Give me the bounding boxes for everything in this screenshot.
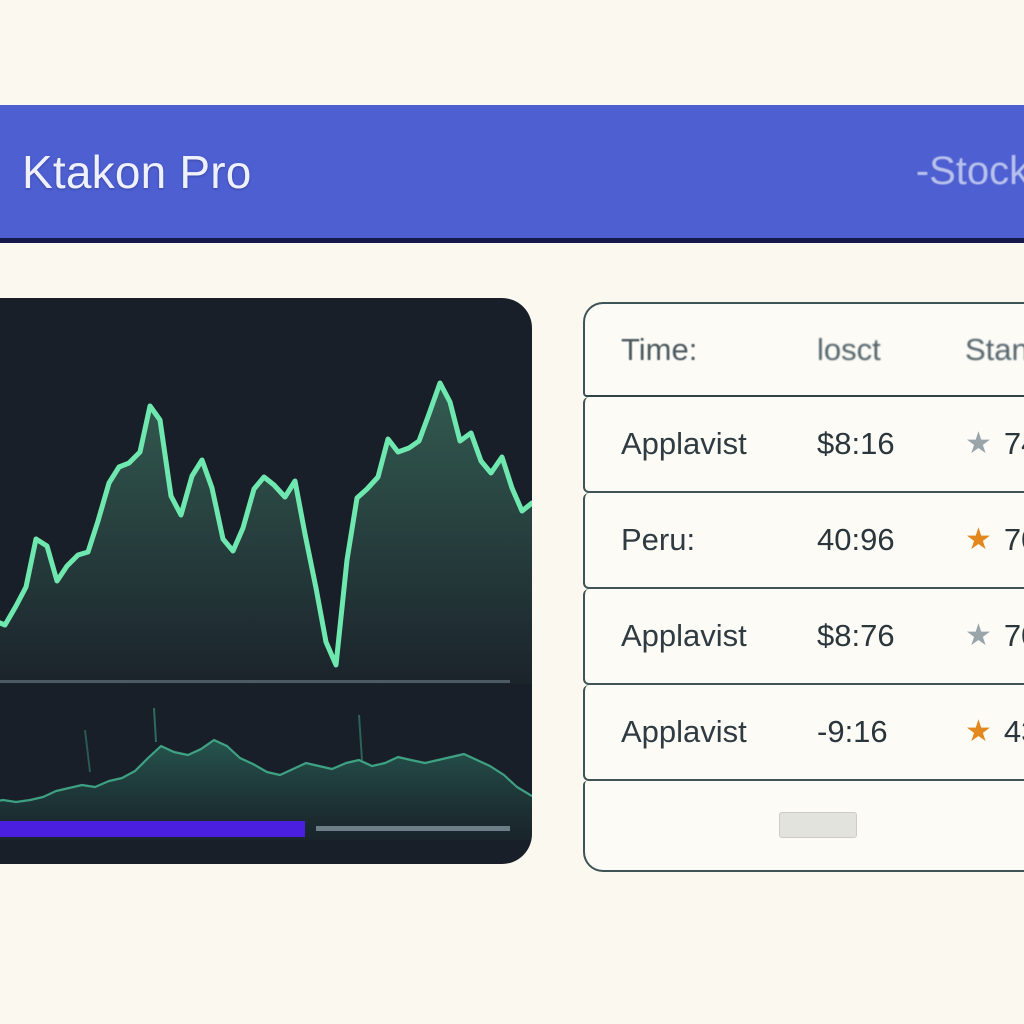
row-name: Applavist xyxy=(621,618,817,654)
star-icon[interactable]: ★ xyxy=(965,429,992,459)
row-score: 745 xyxy=(1004,426,1024,462)
row-score-cell: ★ 702 xyxy=(965,618,1024,654)
table-footer-row xyxy=(583,781,1024,872)
header-col-start: Stant xyxy=(965,332,1024,368)
row-score-cell: ★ 745 xyxy=(965,426,1024,462)
progress-fill[interactable] xyxy=(0,821,305,837)
volume-spike-1 xyxy=(154,708,156,742)
row-value: $8:76 xyxy=(817,618,965,654)
row-score: 70) xyxy=(1004,522,1024,558)
table-row[interactable]: Applavist $8:16 ★ 745 xyxy=(583,397,1024,493)
star-icon[interactable]: ★ xyxy=(965,525,992,555)
chart-card[interactable] xyxy=(0,298,532,864)
volume-chart-svg xyxy=(0,690,532,840)
price-chart[interactable] xyxy=(0,298,532,684)
row-score-cell: ★ 438 xyxy=(965,714,1024,750)
row-value: 40:96 xyxy=(817,522,965,558)
app-header-right-label: -Stockly xyxy=(916,149,1024,194)
app-header: Ktakon Pro -Stockly xyxy=(0,105,1024,243)
row-name: Peru: xyxy=(621,522,817,558)
row-score-cell: ★ 70) xyxy=(965,522,1024,558)
progress-track[interactable] xyxy=(316,826,510,831)
row-score: 702 xyxy=(1004,618,1024,654)
price-chart-svg xyxy=(0,298,532,684)
star-icon[interactable]: ★ xyxy=(965,621,992,651)
row-value: -9:16 xyxy=(817,714,965,750)
table-row[interactable]: Applavist $8:76 ★ 702 xyxy=(583,589,1024,685)
table-row[interactable]: Peru: 40:96 ★ 70) xyxy=(583,493,1024,589)
row-name: Applavist xyxy=(621,714,817,750)
footer-pill-button[interactable] xyxy=(779,812,857,838)
volume-chart[interactable] xyxy=(0,690,532,840)
table-row[interactable]: Applavist -9:16 ★ 438 xyxy=(583,685,1024,781)
table-header-row: Time: losct Stant xyxy=(583,302,1024,397)
volume-spike-3 xyxy=(359,715,362,760)
price-area xyxy=(0,383,532,684)
row-score: 438 xyxy=(1004,714,1024,750)
row-name: Applavist xyxy=(621,426,817,462)
chart-progress-bar[interactable] xyxy=(0,820,532,838)
header-col-last: losct xyxy=(817,332,965,368)
header-col-time: Time: xyxy=(621,332,817,368)
star-icon[interactable]: ★ xyxy=(965,717,992,747)
chart-divider xyxy=(0,680,510,683)
row-value: $8:16 xyxy=(817,426,965,462)
volume-spike-2 xyxy=(85,730,90,772)
stock-list-card: Time: losct Stant Applavist $8:16 ★ 745 … xyxy=(583,302,1024,872)
app-title: Ktakon Pro xyxy=(22,149,252,195)
